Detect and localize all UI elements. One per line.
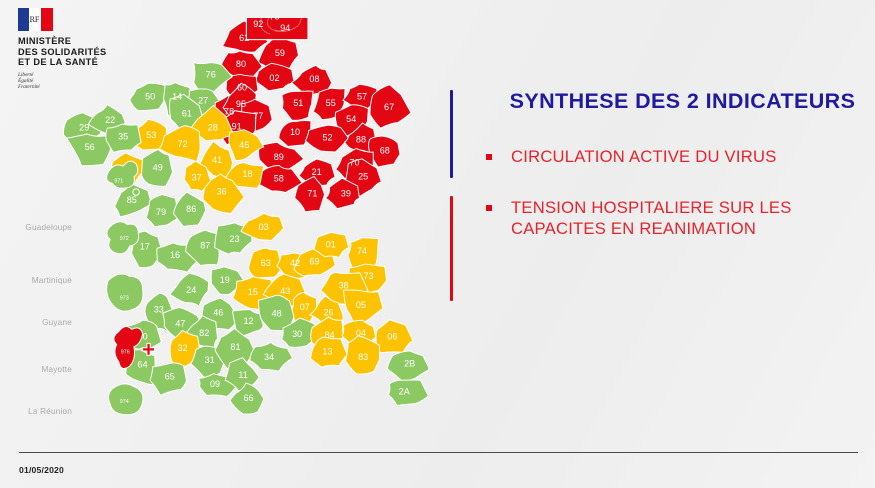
indicator-item-2: TENSION HOSPITALIERE SUR LES CAPACITES E… <box>486 197 861 239</box>
department-52 <box>305 125 348 152</box>
indicator-item-1: CIRCULATION ACTIVE DU VIRUS <box>486 146 861 167</box>
department-06 <box>376 320 413 353</box>
bullet-square-icon <box>486 205 492 211</box>
department-56 <box>67 134 111 166</box>
paris-inset: 93 75 92 94 <box>246 18 308 40</box>
bullet-square-icon <box>486 154 492 160</box>
department-49 <box>142 150 173 187</box>
overseas-label-reunion: La Réunion <box>0 407 72 416</box>
department-65 <box>150 363 187 395</box>
overseas-label-martinique: Martinique <box>0 276 72 285</box>
overseas-label-guyane: Guyane <box>0 318 72 327</box>
indicator-label-1: CIRCULATION ACTIVE DU VIRUS <box>511 146 777 167</box>
overseas-label-mayotte: Mayotte <box>0 365 72 374</box>
page-title: SYNTHESE DES 2 INDICATEURS <box>500 89 865 113</box>
department-10 <box>279 121 311 147</box>
department-2B <box>387 351 428 382</box>
department-63 <box>249 248 282 278</box>
department-24 <box>170 273 209 306</box>
department-2A <box>388 380 428 405</box>
accent-bar-blue <box>450 90 453 178</box>
slide-canvas: RF MINISTÈRE DES SOLIDARITÉS ET DE LA SA… <box>0 0 875 488</box>
department-34 <box>250 342 293 371</box>
footer-date: 01/05/2020 <box>19 465 64 475</box>
department-51 <box>282 91 313 120</box>
france-map: 6259800208607650142761789577915155576754… <box>0 18 440 418</box>
footer-divider <box>19 452 858 453</box>
indicator-label-2: TENSION HOSPITALIERE SUR LES CAPACITES E… <box>511 197 861 239</box>
overseas-label-guadeloupe: Guadeloupe <box>0 223 72 232</box>
france-choropleth-svg: 6259800208607650142761789577915155576754… <box>28 18 428 418</box>
department-83 <box>346 336 380 375</box>
department-50 <box>130 83 169 110</box>
accent-bar-red <box>450 196 453 301</box>
department-86 <box>173 192 205 226</box>
department-35 <box>106 124 141 152</box>
